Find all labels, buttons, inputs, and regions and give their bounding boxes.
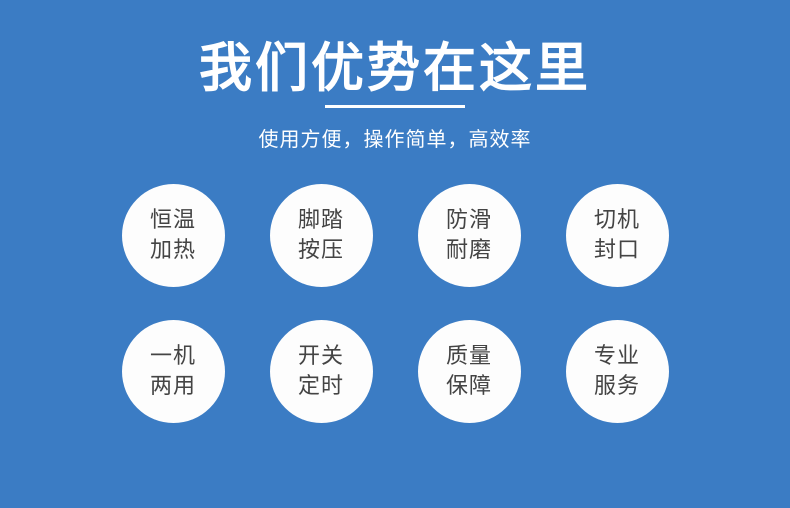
feature-circle-switch-timer: 开关 定时 — [270, 320, 373, 423]
feature-label-line1: 一机 — [150, 342, 196, 372]
feature-circle-foot-pedal-press: 脚踏 按压 — [270, 184, 373, 287]
banner-header: 我们优势在这里 使用方便，操作简单，高效率 — [0, 0, 790, 152]
feature-label-line1: 质量 — [446, 342, 492, 372]
feature-circle-anti-slip-wear-resistant: 防滑 耐磨 — [418, 184, 521, 287]
feature-circle-cutting-sealing: 切机 封口 — [566, 184, 669, 287]
feature-label-line1: 脚踏 — [298, 206, 344, 236]
feature-label-line2: 定时 — [298, 372, 344, 402]
feature-label-line1: 防滑 — [446, 206, 492, 236]
feature-label-line1: 切机 — [594, 206, 640, 236]
feature-circle-dual-purpose: 一机 两用 — [122, 320, 225, 423]
feature-circle-grid: 恒温 加热 脚踏 按压 防滑 耐磨 切机 封口 一机 两用 开关 — [0, 184, 790, 423]
feature-circle-professional-service: 专业 服务 — [566, 320, 669, 423]
feature-label-line2: 封口 — [594, 236, 640, 266]
feature-circle-quality-guarantee: 质量 保障 — [418, 320, 521, 423]
promo-banner: 我们优势在这里 使用方便，操作简单，高效率 恒温 加热 脚踏 按压 防滑 耐磨 … — [0, 0, 790, 508]
feature-circle-constant-temp-heating: 恒温 加热 — [122, 184, 225, 287]
page-subtitle: 使用方便，操作简单，高效率 — [0, 108, 790, 152]
feature-label-line2: 服务 — [594, 372, 640, 402]
page-title: 我们优势在这里 — [0, 0, 790, 100]
feature-label-line2: 按压 — [298, 236, 344, 266]
feature-row-2: 一机 两用 开关 定时 质量 保障 专业 服务 — [0, 320, 790, 423]
feature-label-line2: 加热 — [150, 236, 196, 266]
feature-label-line1: 开关 — [298, 342, 344, 372]
feature-row-1: 恒温 加热 脚踏 按压 防滑 耐磨 切机 封口 — [0, 184, 790, 287]
feature-label-line2: 两用 — [150, 372, 196, 402]
feature-label-line2: 耐磨 — [446, 236, 492, 266]
feature-label-line1: 恒温 — [150, 206, 196, 236]
feature-label-line1: 专业 — [594, 342, 640, 372]
feature-label-line2: 保障 — [446, 372, 492, 402]
